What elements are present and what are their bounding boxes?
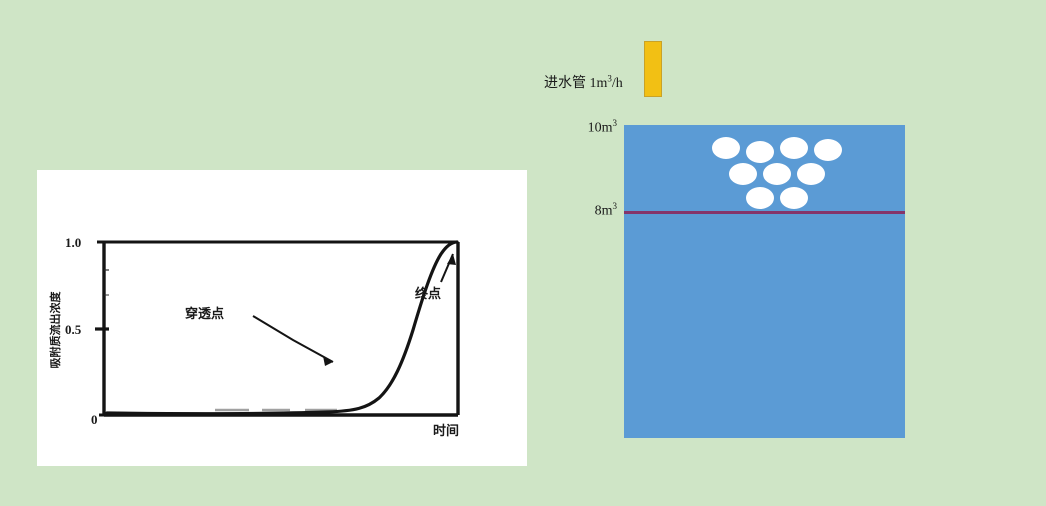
bubble xyxy=(780,137,808,159)
inlet-pipe xyxy=(644,41,662,97)
bubble xyxy=(780,187,808,209)
inlet-rate-value: 1m xyxy=(590,76,608,91)
inlet-pipe-label-text: 进水管 xyxy=(544,75,586,91)
annotation-breakthrough-point: 穿透点 xyxy=(185,306,333,366)
y-axis-title: 吸附质流出浓度 xyxy=(48,291,62,369)
level-label-mark: 8m3 xyxy=(543,201,617,220)
level-label-mark-exponent: 3 xyxy=(613,201,618,211)
bubble xyxy=(814,139,842,161)
y-tick-label-0: 0 xyxy=(91,412,98,427)
level-label-top-value: 10m xyxy=(588,121,613,136)
inlet-pipe-label: 进水管 1m3/h xyxy=(544,72,623,92)
annotation-breakthrough-label: 穿透点 xyxy=(185,306,224,322)
bubble xyxy=(797,163,825,185)
inlet-rate-unit: /h xyxy=(612,76,623,91)
x-axis-title: 时间 xyxy=(433,423,459,439)
chart-axes xyxy=(95,242,458,415)
bubble xyxy=(746,141,774,163)
bubble xyxy=(712,137,740,159)
level-label-top-exponent: 3 xyxy=(613,118,618,128)
bubble xyxy=(729,163,757,185)
chart-series-breakthrough-curve xyxy=(107,242,457,414)
annotation-endpoint-label: 终点 xyxy=(415,286,441,302)
tank-body xyxy=(624,125,905,438)
breakthrough-curve-figure: 穿透点 终点 1.0 0.5 0 吸附质流出浓度 时间 xyxy=(37,170,527,466)
water-tank-diagram: 进水管 1m3/h 10m3 8m3 xyxy=(540,28,940,448)
bubble xyxy=(746,187,774,209)
level-label-mark-value: 8m xyxy=(595,204,613,219)
bubble xyxy=(763,163,791,185)
water-level-line xyxy=(624,211,905,214)
level-label-top: 10m3 xyxy=(543,118,617,137)
breakthrough-curve-chart: 穿透点 终点 1.0 0.5 0 吸附质流出浓度 时间 xyxy=(37,170,527,466)
y-tick-label-1: 1.0 xyxy=(65,235,81,250)
y-tick-label-05: 0.5 xyxy=(65,322,82,337)
